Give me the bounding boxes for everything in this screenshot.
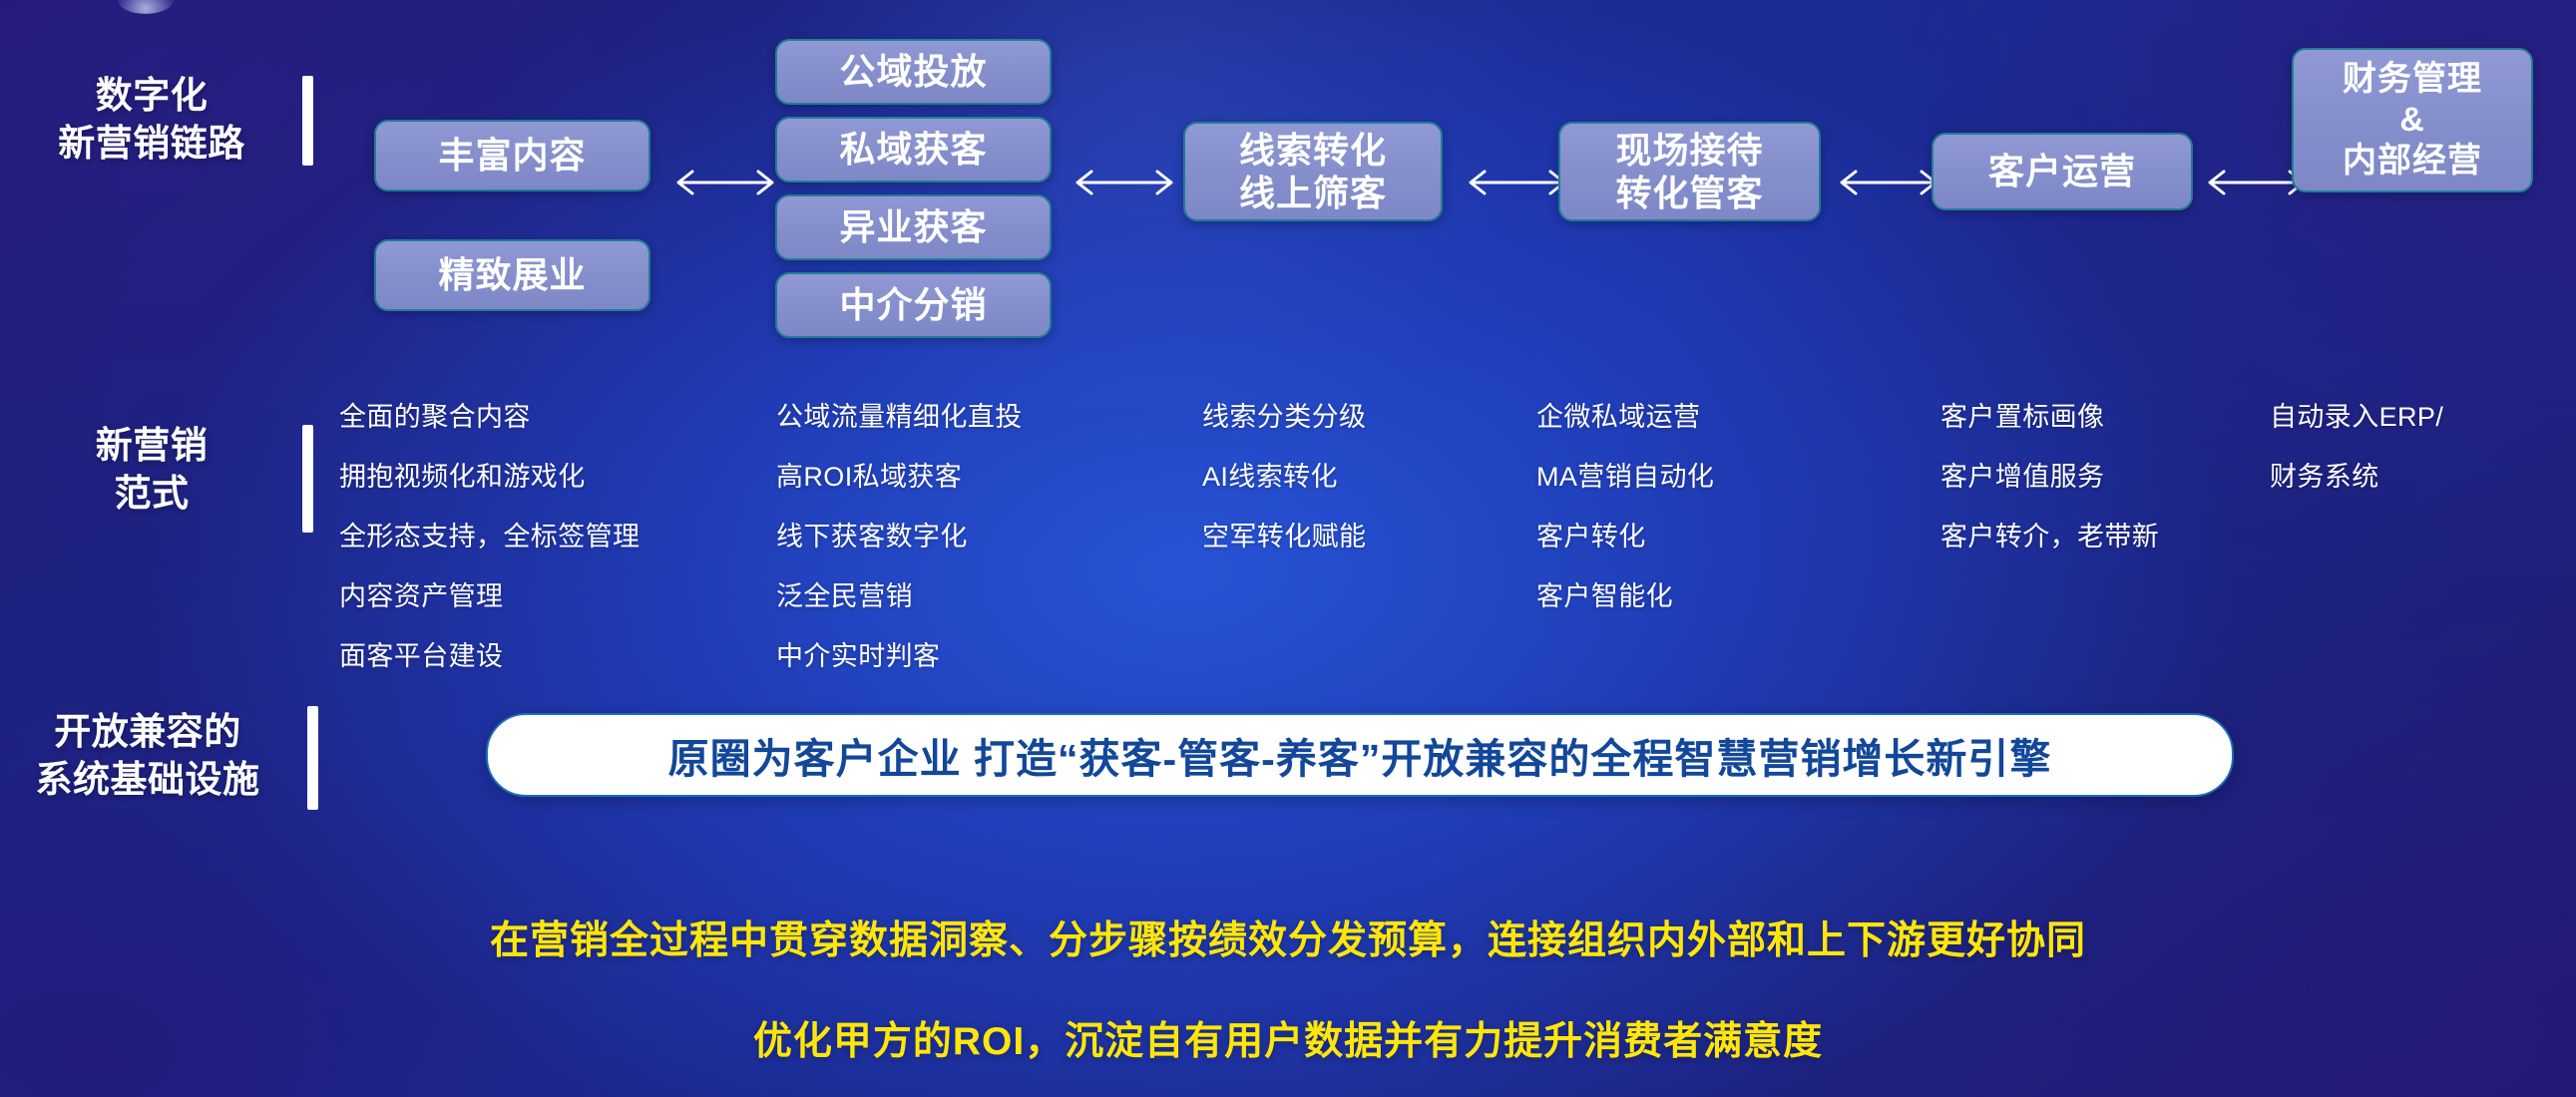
- chain-arrow-3: [1463, 168, 1572, 197]
- row-label-infrastructure: 开放兼容的 系统基础设施: [12, 708, 283, 804]
- chain-box-2-3[interactable]: 异业获客: [775, 194, 1052, 260]
- paradigm-item: 线索分类分级: [1202, 387, 1561, 447]
- paradigm-item: 企微私域运营: [1536, 387, 1916, 447]
- row-label-chain: 数字化 新营销链路: [22, 72, 281, 168]
- paradigm-item: 全面的聚合内容: [339, 387, 758, 447]
- paradigm-item: 全形态支持，全标签管理: [339, 507, 758, 566]
- chain-box-6-1[interactable]: 财务管理 & 内部经营: [2292, 48, 2533, 192]
- paradigm-column-6: 自动录入ERP/ 财务系统: [2270, 387, 2569, 507]
- row-divider-paradigm: [302, 425, 313, 533]
- paradigm-item: 空军转化赋能: [1202, 507, 1561, 566]
- chain-box-4-1[interactable]: 现场接待 转化管客: [1558, 122, 1821, 221]
- chain-box-5-1[interactable]: 客户运营: [1932, 133, 2193, 210]
- chain-box-2-1[interactable]: 公域投放: [775, 39, 1052, 105]
- chain-box-2-2[interactable]: 私域获客: [775, 117, 1052, 183]
- chain-arrow-2: [1070, 168, 1179, 197]
- paradigm-item: AI线索转化: [1202, 447, 1561, 507]
- chain-arrow-4: [1834, 168, 1943, 197]
- infrastructure-banner: 原圈为客户企业 打造“获客-管客-养客”开放兼容的全程智慧营销增长新引擎: [486, 713, 2234, 797]
- paradigm-item: MA营销自动化: [1536, 447, 1916, 507]
- paradigm-item: 客户智能化: [1536, 566, 1916, 626]
- footer-line-1: 在营销全过程中贯穿数据洞察、分步骤按绩效分发预算，连接组织内外部和上下游更好协同: [0, 910, 2576, 965]
- paradigm-item: 线下获客数字化: [776, 507, 1195, 566]
- chain-box-3-1[interactable]: 线索转化 线上筛客: [1183, 122, 1443, 221]
- chain-box-2-4[interactable]: 中介分销: [775, 272, 1052, 338]
- paradigm-column-2: 公域流量精细化直投 高ROI私域获客 线下获客数字化 泛全民营销 中介实时判客: [776, 387, 1195, 686]
- paradigm-item: 内容资产管理: [339, 566, 758, 626]
- row-label-paradigm: 新营销 范式: [22, 422, 281, 518]
- paradigm-column-1: 全面的聚合内容 拥抱视频化和游戏化 全形态支持，全标签管理 内容资产管理 面客平…: [339, 387, 758, 686]
- chain-box-1-1[interactable]: 丰富内容: [374, 120, 650, 191]
- paradigm-item: 财务系统: [2270, 447, 2569, 507]
- paradigm-item: 高ROI私域获客: [776, 447, 1195, 507]
- paradigm-item: 面客平台建设: [339, 626, 758, 686]
- paradigm-item: 拥抱视频化和游戏化: [339, 447, 758, 507]
- paradigm-item: 中介实时判客: [776, 626, 1195, 686]
- chain-arrow-1: [670, 168, 780, 197]
- paradigm-item: 泛全民营销: [776, 566, 1195, 626]
- paradigm-item: 公域流量精细化直投: [776, 387, 1195, 447]
- paradigm-item: 客户转化: [1536, 507, 1916, 566]
- paradigm-column-4: 企微私域运营 MA营销自动化 客户转化 客户智能化: [1536, 387, 1916, 626]
- row-divider-infrastructure: [307, 706, 318, 810]
- row-divider-chain: [302, 76, 313, 166]
- paradigm-item: 自动录入ERP/: [2270, 387, 2569, 447]
- chain-box-1-2[interactable]: 精致展业: [374, 239, 650, 311]
- footer-line-2: 优化甲方的ROI，沉淀自有用户数据并有力提升消费者满意度: [0, 1010, 2576, 1066]
- paradigm-column-3: 线索分类分级 AI线索转化 空军转化赋能: [1202, 387, 1561, 566]
- paradigm-item: 客户转介，老带新: [1940, 507, 2340, 566]
